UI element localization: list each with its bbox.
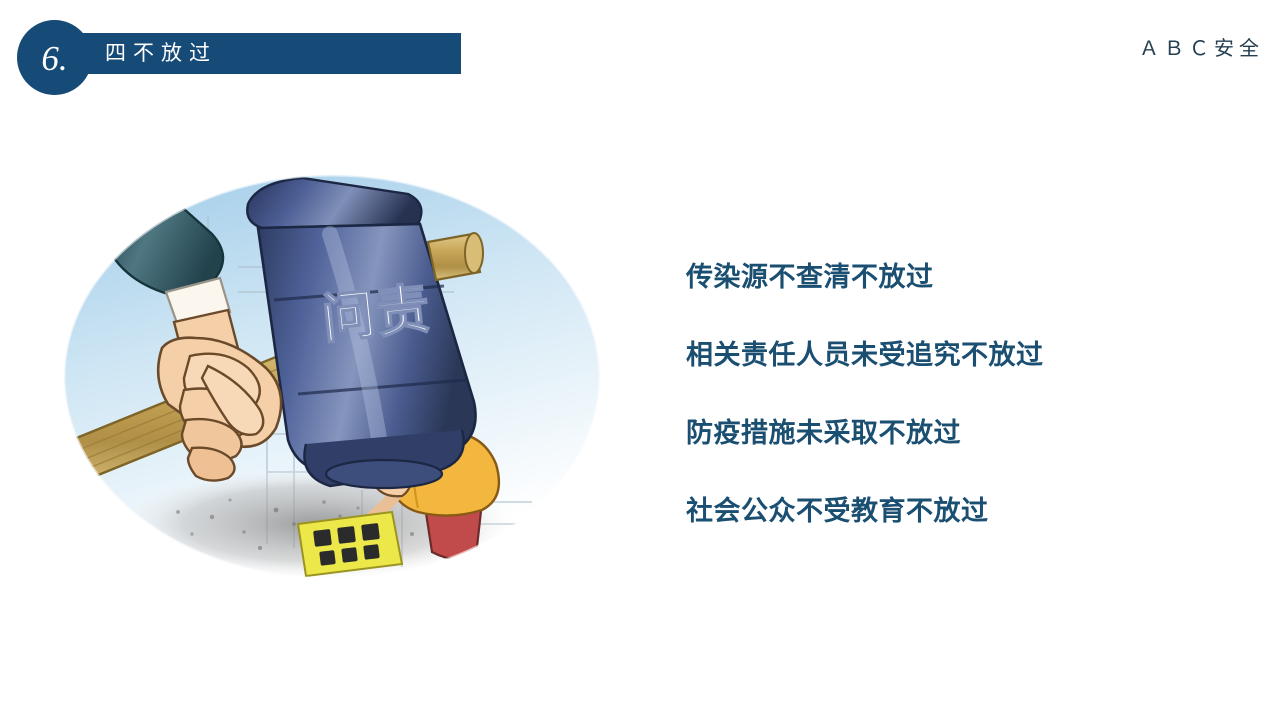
brand-logo-text: ＡＢＣ安全 (1139, 32, 1264, 61)
slide-header: 四不放过 6. ＡＢＣ安全 (0, 0, 1280, 110)
bullet-item-2: 相关责任人员未受追究不放过 (686, 340, 1206, 370)
gavel-label-text: 问责 (319, 279, 433, 350)
gavel-striking-face (326, 460, 442, 488)
section-number-badge: 6. (17, 20, 92, 95)
section-number-label: 6. (17, 20, 92, 95)
gavel-peg (428, 233, 483, 280)
sign-board (298, 512, 402, 576)
illustration-accountability-gavel: 问责 (62, 172, 614, 586)
bullet-item-4: 社会公众不受教育不放过 (686, 496, 1206, 526)
peg-end (465, 233, 483, 273)
bullet-item-3: 防疫措施未采取不放过 (686, 418, 1206, 448)
slide-root: 四不放过 6. ＡＢＣ安全 (0, 0, 1280, 720)
page-title: 四不放过 (105, 33, 217, 74)
bullet-item-1: 传染源不查清不放过 (686, 262, 1206, 292)
yellow-notice-sign (298, 512, 402, 576)
title-bar: 四不放过 (55, 33, 461, 74)
bullet-list: 传染源不查清不放过 相关责任人员未受追究不放过 防疫措施未采取不放过 社会公众不… (686, 262, 1206, 526)
